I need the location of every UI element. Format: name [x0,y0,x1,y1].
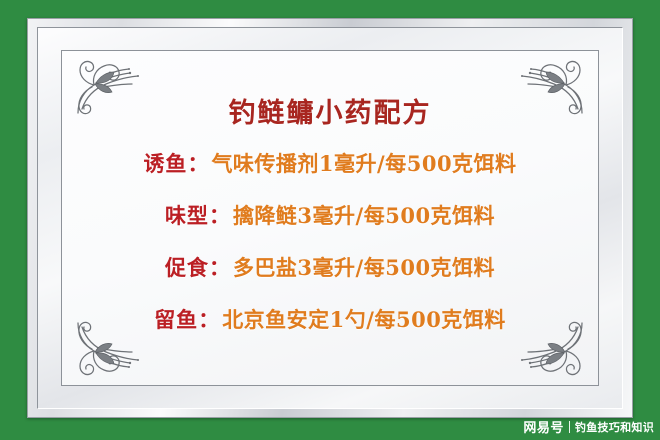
watermark-brand: 网易号 [523,417,564,436]
recipe-colon-3: ： [198,304,222,334]
watermark-divider [569,421,570,433]
watermark-account-name: 钓鱼技巧和知识 [575,419,654,435]
recipe-value-3: 北京鱼安定1勺/每500克饵料 [222,304,506,334]
recipe-row-3: 留鱼 ： 北京鱼安定1勺/每500克饵料 [154,304,506,334]
recipe-label-0: 诱鱼 [143,148,187,178]
recipe-value-2: 多巴盐3毫升/每500克饵料 [233,252,495,282]
recipe-row-1: 味型 ： 擒降鲢3毫升/每500克饵料 [165,200,495,230]
page-title: 钓鲢鳙小药配方 [229,91,432,130]
recipe-label-2: 促食 [165,252,209,282]
recipe-value-0: 气味传播剂1毫升/每500克饵料 [211,148,516,178]
recipe-colon-1: ： [209,200,233,230]
recipe-label-3: 留鱼 [154,304,198,334]
recipe-label-1: 味型 [165,200,209,230]
silver-frame-outer: 钓鲢鳙小药配方 诱鱼 ： 气味传播剂1毫升/每500克饵料 味型 ： 擒降鲢3毫… [27,18,633,418]
inner-panel: 钓鲢鳙小药配方 诱鱼 ： 气味传播剂1毫升/每500克饵料 味型 ： 擒降鲢3毫… [61,50,599,386]
recipe-value-1: 擒降鲢3毫升/每500克饵料 [233,200,495,230]
silver-frame-bevel: 钓鲢鳙小药配方 诱鱼 ： 气味传播剂1毫升/每500克饵料 味型 ： 擒降鲢3毫… [37,27,623,409]
recipe-row-0: 诱鱼 ： 气味传播剂1毫升/每500克饵料 [143,148,516,178]
recipe-row-2: 促食 ： 多巴盐3毫升/每500克饵料 [165,252,495,282]
watermark-badge: 网易号 钓鱼技巧和知识 [523,417,654,436]
poster-content: 钓鲢鳙小药配方 诱鱼 ： 气味传播剂1毫升/每500克饵料 味型 ： 擒降鲢3毫… [62,91,598,351]
recipe-colon-0: ： [187,148,211,178]
recipe-list: 诱鱼 ： 气味传播剂1毫升/每500克饵料 味型 ： 擒降鲢3毫升/每500克饵… [62,148,598,334]
poster-canvas: 钓鲢鳙小药配方 诱鱼 ： 气味传播剂1毫升/每500克饵料 味型 ： 擒降鲢3毫… [0,0,660,440]
recipe-colon-2: ： [209,252,233,282]
